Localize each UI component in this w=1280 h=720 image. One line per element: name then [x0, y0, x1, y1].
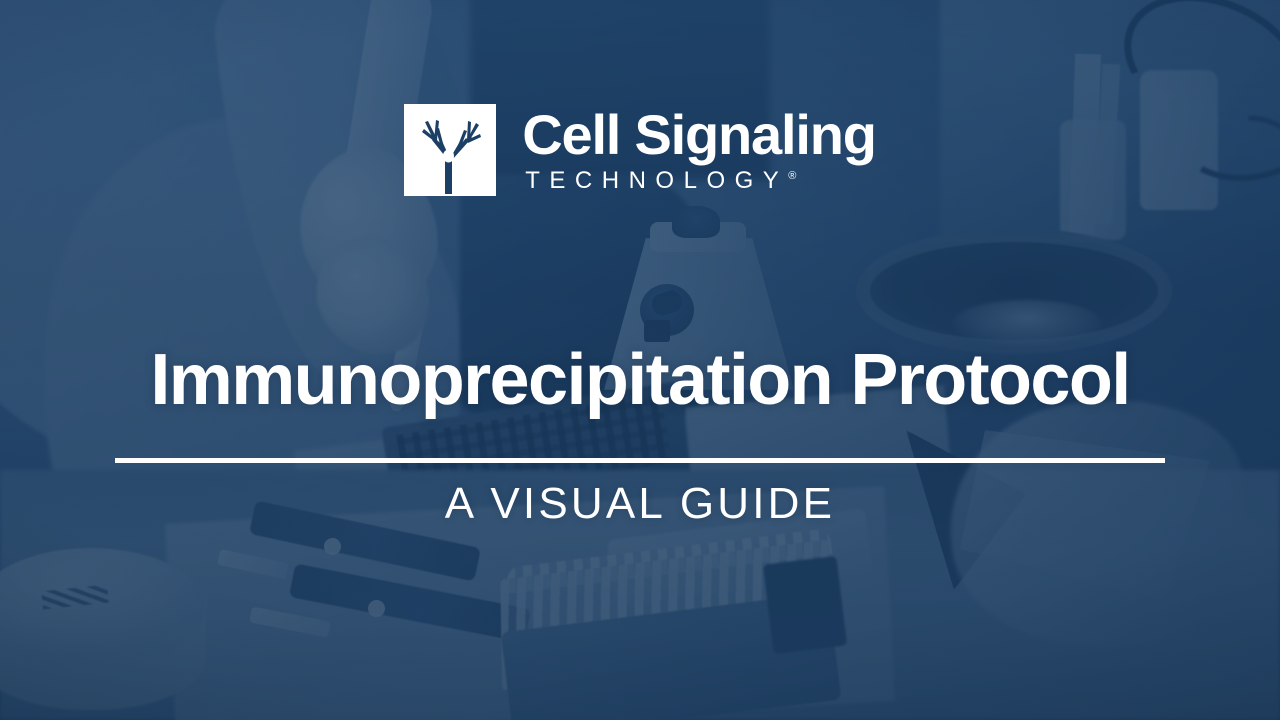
brand-wordmark: Cell Signaling TECHNOLOGY®	[522, 106, 875, 195]
title-divider	[115, 458, 1165, 463]
trademark-symbol: ®	[788, 170, 796, 182]
page-title: Immunoprecipitation Protocol	[0, 344, 1280, 417]
page-subtitle: A VISUAL GUIDE	[0, 478, 1280, 531]
neuron-tree-icon	[404, 104, 496, 196]
title-slide: Cell Signaling TECHNOLOGY® Immunoprecipi…	[0, 0, 1280, 720]
brand-logo: Cell Signaling TECHNOLOGY®	[0, 104, 1280, 196]
brand-sub: TECHNOLOGY®	[525, 168, 875, 194]
brand-name: Cell Signaling	[522, 106, 875, 163]
slide-content: Cell Signaling TECHNOLOGY® Immunoprecipi…	[0, 0, 1280, 720]
brand-sub-text: TECHNOLOGY	[525, 167, 788, 194]
